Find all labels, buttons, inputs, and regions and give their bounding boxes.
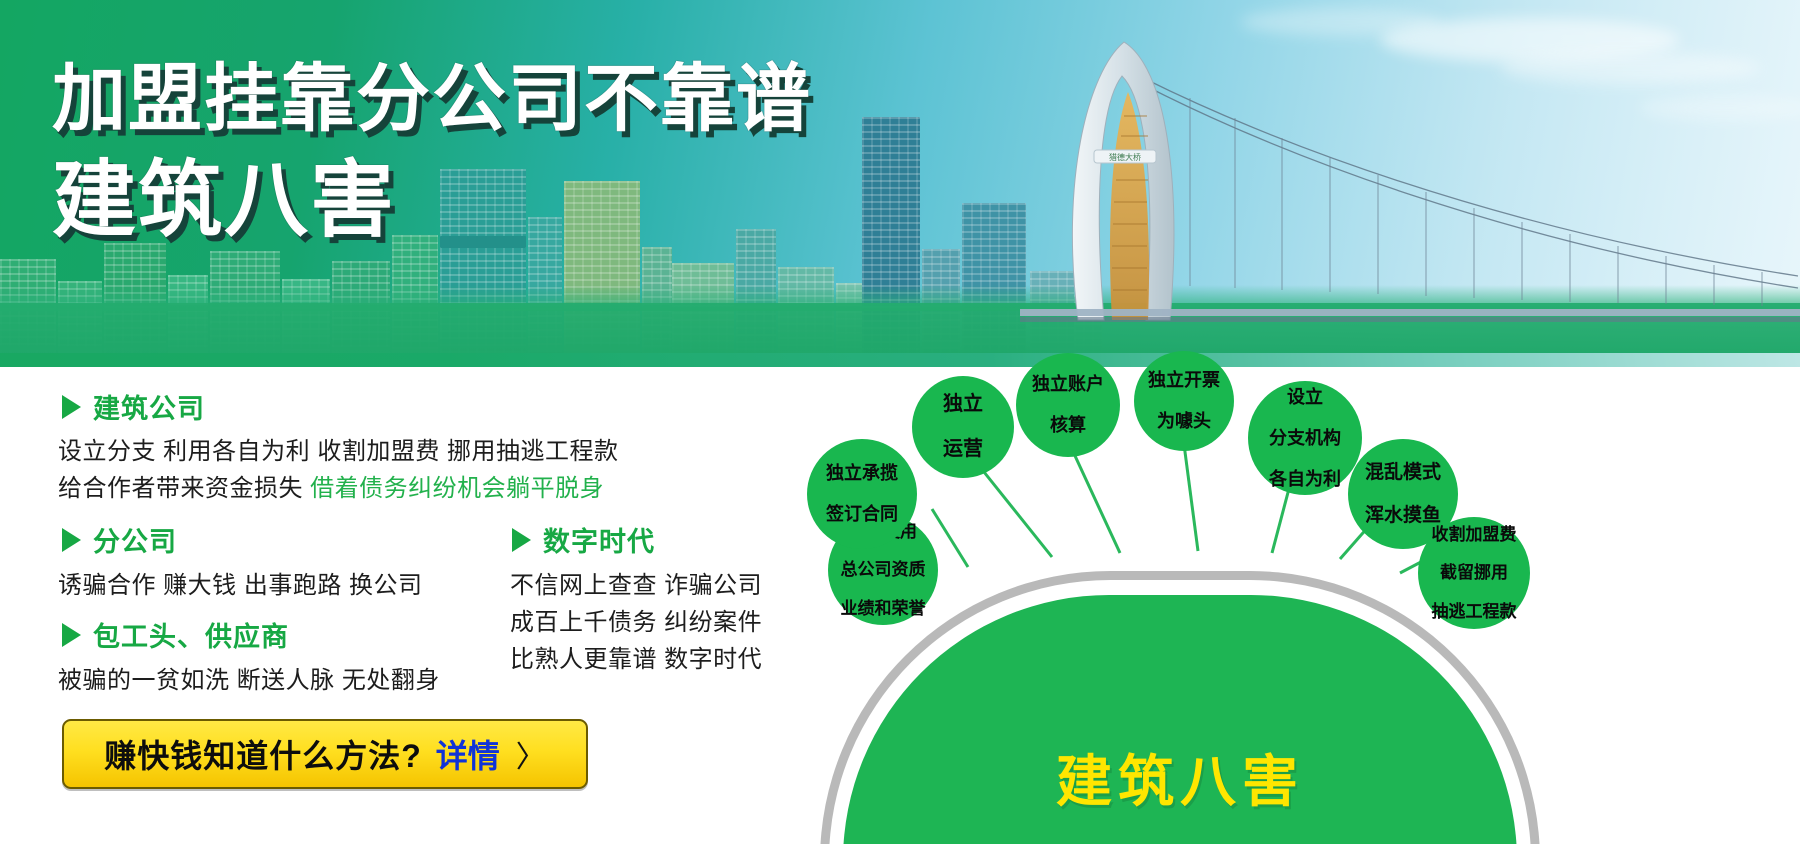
bubble-independent-operation[interactable]: 独立 运营 — [912, 376, 1014, 478]
hero-banner: 猎德大桥 加盟挂靠分公司不靠谱 建筑八害 — [0, 0, 1800, 367]
hero-headline: 加盟挂靠分公司不靠谱 建筑八害 — [52, 62, 812, 242]
section-text-line: 给合作者带来资金损失 借着债务纠纷机会躺平脱身 — [58, 468, 604, 503]
bridge-svg: 猎德大桥 — [1020, 20, 1800, 350]
section-title: 建筑公司 — [93, 387, 205, 426]
bubble-line: 签订合同 — [820, 504, 904, 525]
bubble-line: 为噱头 — [1142, 411, 1226, 432]
bubble-line: 业绩和荣誉 — [835, 599, 932, 618]
cta-button[interactable]: 赚快钱知道什么方法? 详情 〉 — [62, 719, 588, 789]
bubble-independent-contracting[interactable]: 独立承揽 签订合同 — [807, 439, 917, 549]
headline-line-1: 加盟挂靠分公司不靠谱 — [52, 62, 812, 136]
bubble-line: 分支机构 — [1263, 428, 1347, 449]
bubble-line: 截留挪用 — [1426, 563, 1523, 582]
cta-detail-link[interactable]: 详情 — [436, 731, 500, 777]
section-header-digital-era: 数字时代 — [512, 520, 655, 559]
bridge-landmark: 猎德大桥 — [1020, 20, 1800, 350]
bubble-harvest-franchise-fee[interactable]: 收割加盟费 截留挪用 抽逃工程款 — [1418, 517, 1530, 629]
bubble-line: 核算 — [1026, 415, 1110, 436]
text-dark: 比熟人更靠谱 数字时代 — [510, 646, 762, 673]
bubble-line: 抽逃工程款 — [1426, 602, 1523, 621]
bubble-line: 独立承揽 — [820, 463, 904, 484]
bubble-line: 总公司资质 — [835, 560, 932, 579]
text-dark: 不信网上查查 诈骗公司 — [510, 572, 762, 599]
bridge-deck-shadow — [1020, 317, 1800, 322]
section-text-line: 被骗的一贫如洗 断送人脉 无处翻身 — [58, 660, 440, 695]
triangle-bullet-icon — [512, 528, 531, 552]
bubble-line: 收割加盟费 — [1426, 525, 1523, 544]
section-header-branch-company: 分公司 — [62, 520, 177, 559]
section-text-line: 成百上千债务 纠纷案件 — [510, 602, 762, 637]
text-dark: 给合作者带来资金损失 — [58, 475, 310, 502]
bubble-line: 独立 — [937, 393, 989, 416]
bubble-diagram: 建筑八害 借着使用 总公司资质 业绩和荣誉 独立承揽 签订合同 独立 运营 独立… — [820, 367, 1800, 844]
text-dark: 设立分支 利用各自为利 收割加盟费 挪用抽逃工程款 — [58, 438, 619, 465]
bubble-independent-invoice[interactable]: 独立开票 为噱头 — [1134, 351, 1234, 451]
svg-text:猎德大桥: 猎德大桥 — [1109, 152, 1141, 162]
triangle-bullet-icon — [62, 528, 81, 552]
triangle-bullet-icon — [62, 623, 81, 647]
section-title: 分公司 — [93, 520, 177, 559]
section-text-line: 不信网上查查 诈骗公司 — [510, 565, 762, 600]
arch-center-label: 建筑八害 — [843, 737, 1517, 818]
cta-main-label: 赚快钱知道什么方法? — [104, 731, 422, 777]
bubble-line: 运营 — [937, 438, 989, 461]
bubble-line: 独立账户 — [1026, 374, 1110, 395]
chevron-right-icon: 〉 — [516, 732, 546, 776]
bubble-line: 设立 — [1263, 387, 1347, 408]
section-text-line: 比熟人更靠谱 数字时代 — [510, 639, 762, 674]
section-text-line: 设立分支 利用各自为利 收割加盟费 挪用抽逃工程款 — [58, 431, 619, 466]
section-text-line: 诱骗合作 赚大钱 出事跑路 换公司 — [58, 565, 423, 600]
text-green-highlight: 借着债务纠纷机会躺平脱身 — [310, 475, 604, 502]
bubble-line: 浑水摸鱼 — [1359, 505, 1447, 527]
bubble-line: 混乱模式 — [1359, 462, 1447, 484]
bridge-deck — [1020, 309, 1800, 316]
headline-line-2: 建筑八害 — [52, 158, 812, 242]
bubble-line: 独立开票 — [1142, 370, 1226, 391]
text-dark: 成百上千债务 纠纷案件 — [510, 609, 762, 636]
section-header-construction-company: 建筑公司 — [62, 387, 205, 426]
bubble-set-up-branches[interactable]: 设立 分支机构 各自为利 — [1248, 381, 1362, 495]
text-dark: 诱骗合作 赚大钱 出事跑路 换公司 — [58, 572, 423, 599]
triangle-bullet-icon — [62, 395, 81, 419]
left-content-panel: 建筑公司 设立分支 利用各自为利 收割加盟费 挪用抽逃工程款 给合作者带来资金损… — [0, 367, 820, 844]
section-header-contractor-supplier: 包工头、供应商 — [62, 615, 289, 654]
text-dark: 被骗的一贫如洗 断送人脉 无处翻身 — [58, 667, 440, 694]
banner-bottom-edge — [0, 353, 1800, 367]
section-title: 包工头、供应商 — [93, 615, 289, 654]
bubble-independent-account[interactable]: 独立账户 核算 — [1016, 353, 1120, 457]
promo-banner-page: 猎德大桥 加盟挂靠分公司不靠谱 建筑八害 建筑公司 设立分支 利用各自为利 收割… — [0, 0, 1800, 844]
section-title: 数字时代 — [543, 520, 655, 559]
bubble-line: 各自为利 — [1263, 469, 1347, 490]
